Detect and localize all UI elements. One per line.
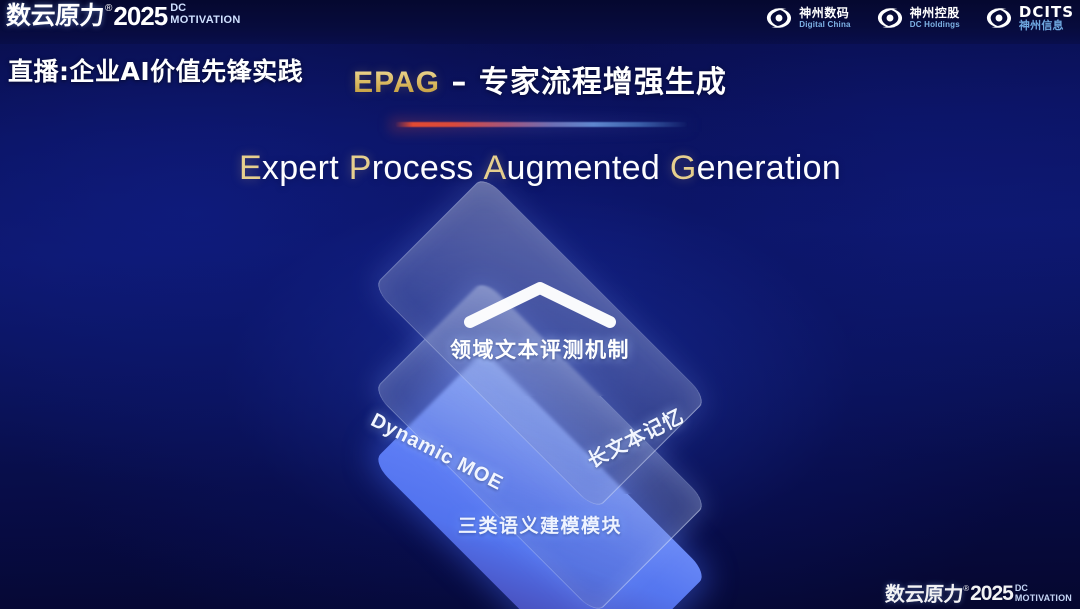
main-title-acronym: EPAG bbox=[353, 66, 440, 99]
subtitle-space-2 bbox=[474, 149, 484, 187]
partner-name-en: DCITS bbox=[1019, 4, 1074, 20]
diagram-label-top: 领域文本评测机制 bbox=[0, 334, 1080, 364]
english-subtitle: Expert Process Augmented Generation bbox=[0, 149, 1080, 188]
chevron-up-icon bbox=[462, 278, 618, 330]
brand-logo-dc-motivation: DC MOTIVATION bbox=[170, 3, 240, 26]
subtitle-space-3 bbox=[660, 149, 670, 187]
partner-text-digital-china: 神州数码 Digital China bbox=[799, 7, 851, 30]
watermark-motivation-text: MOTIVATION bbox=[1015, 593, 1072, 603]
brand-dc-text: DC bbox=[170, 3, 240, 14]
partner-logo-digital-china: 神州数码 Digital China bbox=[764, 5, 851, 31]
partner-name-cn: 神州数码 bbox=[799, 7, 851, 20]
slide-canvas: 数云原力 ® 2025 DC MOTIVATION 直播:企业AI价值先锋实践 … bbox=[0, 0, 1080, 609]
watermark-chinese: 数云原力 bbox=[885, 583, 964, 605]
subtitle-cap-e: E bbox=[239, 149, 262, 187]
brand-logo-year: 2025 bbox=[113, 2, 167, 30]
subtitle-rest-process: rocess bbox=[372, 149, 474, 187]
swirl-logo-icon bbox=[984, 5, 1014, 31]
partner-name-en: Digital China bbox=[799, 20, 851, 30]
brand-logo-chinese: 数云原力 bbox=[6, 2, 105, 30]
partner-name-en: DC Holdings bbox=[910, 20, 960, 30]
brand-motivation-text: MOTIVATION bbox=[170, 14, 240, 26]
main-title-separator: – bbox=[440, 65, 479, 100]
brand-registered-mark: ® bbox=[105, 2, 112, 16]
main-title-chinese: 专家流程增强生成 bbox=[479, 65, 727, 100]
live-broadcast-title: 直播:企业AI价值先锋实践 bbox=[8, 52, 303, 88]
diagram-label-bottom: 三类语义建模模块 bbox=[0, 511, 1080, 538]
swirl-logo-icon bbox=[875, 5, 905, 31]
partner-text-dc-holdings: 神州控股 DC Holdings bbox=[910, 7, 960, 30]
subtitle-cap-g: G bbox=[670, 149, 697, 187]
partner-name-cn: 神州控股 bbox=[910, 7, 960, 20]
brand-logo: 数云原力 ® 2025 DC MOTIVATION bbox=[6, 2, 241, 30]
partner-text-dcits: DCITS 神州信息 bbox=[1019, 4, 1074, 32]
partner-logo-dcits: DCITS 神州信息 bbox=[984, 4, 1074, 32]
subtitle-rest-generation: eneration bbox=[697, 149, 841, 187]
partner-name-cn: 神州信息 bbox=[1019, 20, 1074, 32]
title-divider bbox=[395, 122, 687, 127]
watermark-registered-mark: ® bbox=[963, 583, 969, 594]
subtitle-space-1 bbox=[339, 149, 349, 187]
subtitle-rest-augmented: ugmented bbox=[506, 149, 660, 187]
swirl-logo-icon bbox=[764, 5, 794, 31]
watermark-logo: 数云原力 ® 2025 DC MOTIVATION bbox=[885, 583, 1072, 605]
subtitle-cap-a: A bbox=[483, 149, 506, 187]
subtitle-cap-p: P bbox=[349, 149, 372, 187]
watermark-year: 2025 bbox=[970, 583, 1013, 605]
subtitle-rest-expert: xpert bbox=[262, 149, 339, 187]
partner-logo-group: 神州数码 Digital China 神州控股 DC Holdings bbox=[764, 4, 1074, 32]
watermark-dc-motivation: DC MOTIVATION bbox=[1015, 584, 1072, 603]
partner-logo-dc-holdings: 神州控股 DC Holdings bbox=[875, 5, 960, 31]
watermark-dc-text: DC bbox=[1015, 584, 1072, 593]
